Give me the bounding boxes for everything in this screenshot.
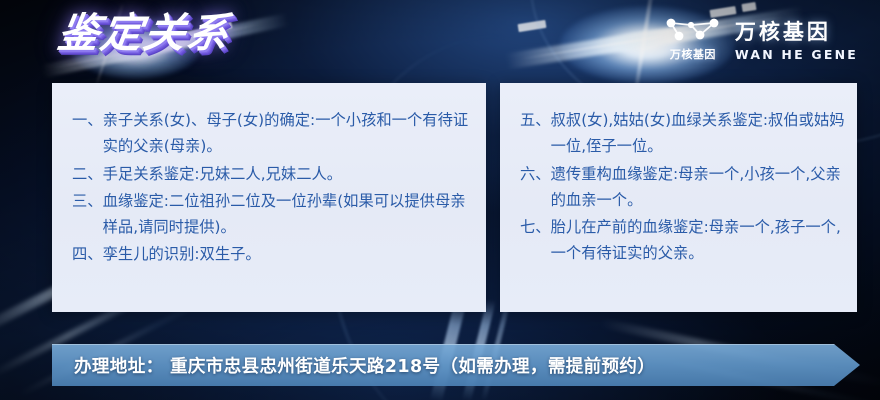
- list-item-text: 胎儿在产前的血缘鉴定:母亲一个,孩子一个,一个有待证实的父亲。: [551, 214, 845, 267]
- list-item-number: 五、: [520, 107, 551, 133]
- address-text: 办理地址： 重庆市忠县忠州街道乐天路218号（如需办理，需提前预约）: [74, 344, 655, 386]
- brand-name-en: WAN HE GENE: [735, 47, 858, 62]
- brand-mark: 万核基因: [664, 17, 722, 62]
- list-item: 四、 孪生儿的识别:双生子。: [72, 241, 472, 267]
- brand-wordmark: 万核基因 WAN HE GENE: [735, 16, 858, 62]
- list-item-number: 七、: [520, 214, 551, 240]
- list-item: 六、 遗传重构血缘鉴定:母亲一个,小孩一个,父亲的血亲一个。: [520, 161, 845, 214]
- list-item-text: 血缘鉴定:二位祖孙二位及一位孙辈(如果可以提供母亲样品,请同时提供)。: [103, 188, 472, 241]
- brand-mark-label: 万核基因: [670, 46, 716, 62]
- brand-logo: 万核基因 万核基因 WAN HE GENE: [664, 16, 858, 62]
- poster-stage: 鉴定关系 万核基因: [0, 0, 880, 400]
- list-item-text: 遗传重构血缘鉴定:母亲一个,小孩一个,父亲的血亲一个。: [551, 161, 845, 214]
- relationship-list-right: 五、 叔叔(女),姑姑(女)血绿关系鉴定:叔伯或姑妈一位,侄子一位。 六、 遗传…: [500, 83, 857, 267]
- list-item: 五、 叔叔(女),姑姑(女)血绿关系鉴定:叔伯或姑妈一位,侄子一位。: [520, 107, 845, 160]
- list-item: 一、 亲子关系(女)、母子(女)的确定:一个小孩和一个有待证实的父亲(母亲)。: [72, 107, 472, 160]
- list-item-number: 四、: [72, 241, 103, 267]
- info-panel-right: 五、 叔叔(女),姑姑(女)血绿关系鉴定:叔伯或姑妈一位,侄子一位。 六、 遗传…: [500, 83, 857, 312]
- relationship-list-left: 一、 亲子关系(女)、母子(女)的确定:一个小孩和一个有待证实的父亲(母亲)。 …: [52, 83, 486, 268]
- list-item-text: 亲子关系(女)、母子(女)的确定:一个小孩和一个有待证实的父亲(母亲)。: [103, 107, 472, 160]
- list-item-number: 一、: [72, 107, 103, 133]
- molecule-icon: [664, 17, 722, 43]
- list-item: 二、 手足关系鉴定:兄妹二人,兄妹二人。: [72, 161, 472, 187]
- list-item-number: 六、: [520, 161, 551, 187]
- list-item-text: 叔叔(女),姑姑(女)血绿关系鉴定:叔伯或姑妈一位,侄子一位。: [551, 107, 845, 160]
- list-item: 七、 胎儿在产前的血缘鉴定:母亲一个,孩子一个,一个有待证实的父亲。: [520, 214, 845, 267]
- list-item-text: 手足关系鉴定:兄妹二人,兄妹二人。: [103, 161, 472, 187]
- brand-name-cn: 万核基因: [735, 16, 831, 46]
- page-title: 鉴定关系: [55, 12, 234, 55]
- list-item-number: 二、: [72, 161, 103, 187]
- address-banner: 办理地址： 重庆市忠县忠州街道乐天路218号（如需办理，需提前预约）: [52, 344, 860, 386]
- list-item: 三、 血缘鉴定:二位祖孙二位及一位孙辈(如果可以提供母亲样品,请同时提供)。: [72, 188, 472, 241]
- info-panel-left: 一、 亲子关系(女)、母子(女)的确定:一个小孩和一个有待证实的父亲(母亲)。 …: [52, 83, 486, 312]
- list-item-text: 孪生儿的识别:双生子。: [103, 241, 472, 267]
- list-item-number: 三、: [72, 188, 103, 214]
